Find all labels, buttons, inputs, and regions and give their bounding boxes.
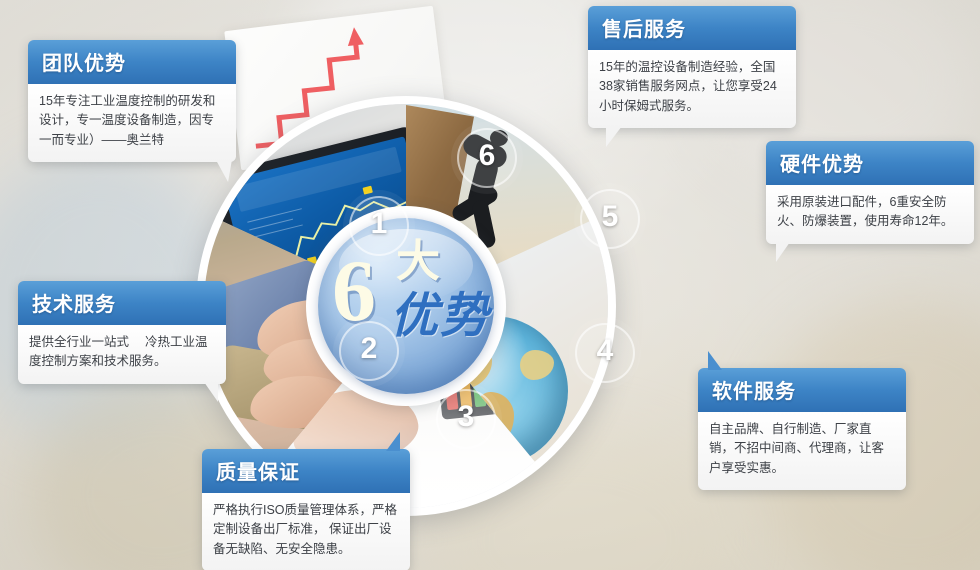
callout-tail xyxy=(386,432,400,451)
segment-number-3[interactable]: 3 xyxy=(436,389,496,449)
callout-tail xyxy=(204,382,218,402)
callout-body: 15年专注工业温度控制的研发和设计，专一温度设备制造，因专一而专业）——奥兰特 xyxy=(28,84,236,162)
callout-body: 15年的温控设备制造经验，全国38家销售服务网点，让您享受24小时保姆式服务。 xyxy=(588,50,796,128)
segment-number-5[interactable]: 5 xyxy=(580,189,640,249)
callout-title: 团队优势 xyxy=(28,40,236,84)
center-word: 优势 xyxy=(390,292,490,342)
callout-tail xyxy=(708,351,722,370)
callout-technical-service[interactable]: 技术服务 提供全行业一站式 冷热工业温度控制方案和技术服务。 xyxy=(18,281,226,384)
callout-title: 技术服务 xyxy=(18,281,226,325)
poster-stage: 6 大 优势 1 2 3 4 5 6 团队优势 15年专注工业温度控制的研发和设… xyxy=(0,0,980,570)
callout-title: 软件服务 xyxy=(698,368,906,412)
segment-number-2[interactable]: 2 xyxy=(339,321,399,381)
segment-number-1[interactable]: 1 xyxy=(349,196,409,256)
callout-tail xyxy=(776,242,790,262)
callout-tail xyxy=(606,126,622,147)
callout-after-sales-service[interactable]: 售后服务 15年的温控设备制造经验，全国38家销售服务网点，让您享受24小时保姆… xyxy=(588,6,796,128)
callout-title: 硬件优势 xyxy=(766,141,974,185)
callout-body: 采用原装进口配件，6重安全防火、防爆装置，使用寿命12年。 xyxy=(766,185,974,244)
callout-software-service[interactable]: 软件服务 自主品牌、自行制造、厂家直销，不招中间商、代理商，让客户享受实惠。 xyxy=(698,368,906,490)
callout-body: 提供全行业一站式 冷热工业温度控制方案和技术服务。 xyxy=(18,325,226,384)
segment-number-4[interactable]: 4 xyxy=(575,323,635,383)
callout-hardware-advantage[interactable]: 硬件优势 采用原装进口配件，6重安全防火、防爆装置，使用寿命12年。 xyxy=(766,141,974,244)
callout-title: 质量保证 xyxy=(202,449,410,493)
segment-number-6[interactable]: 6 xyxy=(457,128,517,188)
center-unit: 大 xyxy=(396,240,440,284)
callout-body: 自主品牌、自行制造、厂家直销，不招中间商、代理商，让客户享受实惠。 xyxy=(698,412,906,490)
callout-body: 严格执行ISO质量管理体系，严格定制设备出厂标准， 保证出厂设备无缺陷、无安全隐… xyxy=(202,493,410,570)
callout-team-advantage[interactable]: 团队优势 15年专注工业温度控制的研发和设计，专一温度设备制造，因专一而专业）—… xyxy=(28,40,236,162)
callout-quality-assurance[interactable]: 质量保证 严格执行ISO质量管理体系，严格定制设备出厂标准， 保证出厂设备无缺陷… xyxy=(202,449,410,570)
callout-title: 售后服务 xyxy=(588,6,796,50)
